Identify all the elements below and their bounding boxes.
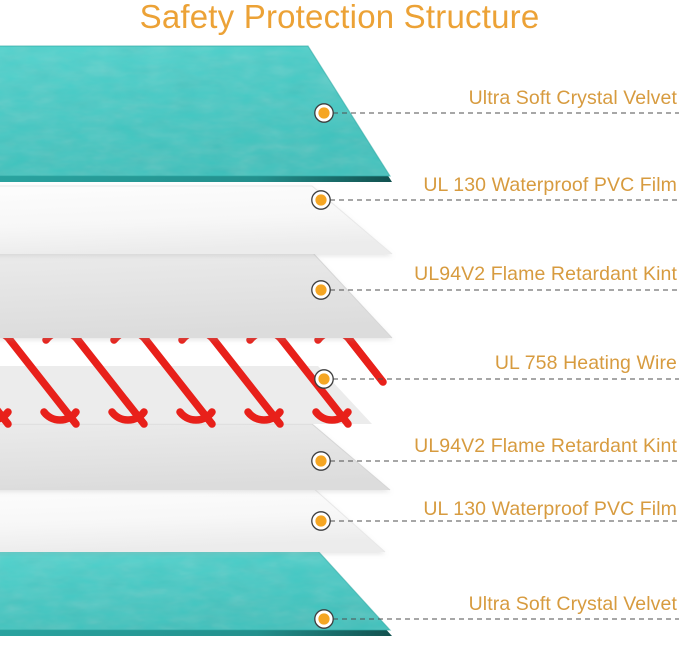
callout-dot-icon-2[interactable] bbox=[312, 191, 330, 209]
layer-label-ul-130-waterproof-pvc-film-top: UL 130 Waterproof PVC Film bbox=[423, 174, 677, 197]
layer-label-ultra-soft-crystal-velvet-bottom: Ultra Soft Crystal Velvet bbox=[469, 593, 677, 616]
heating-wire-lead bbox=[350, 340, 383, 382]
callout-dot-icon-5[interactable] bbox=[312, 452, 330, 470]
layer-5-face bbox=[0, 424, 390, 490]
callout-dot-icon-4[interactable] bbox=[315, 370, 333, 388]
callout-dot-icon-1[interactable] bbox=[315, 104, 333, 122]
layer-5-knit-slab bbox=[0, 424, 390, 490]
layer-2-pvc-slab bbox=[0, 186, 392, 254]
callout-dot-icon-6[interactable] bbox=[312, 512, 330, 530]
infographic-canvas: Safety Protection Structure Ultra Soft C… bbox=[0, 0, 679, 648]
callout-dot-icon-3[interactable] bbox=[312, 281, 330, 299]
layer-label-ul-130-waterproof-pvc-film-bottom: UL 130 Waterproof PVC Film bbox=[423, 498, 677, 521]
layer-label-ultra-soft-crystal-velvet-top: Ultra Soft Crystal Velvet bbox=[469, 87, 677, 110]
callout-dot-icon-7[interactable] bbox=[315, 610, 333, 628]
layer-label-ul-758-heating-wire: UL 758 Heating Wire bbox=[495, 352, 677, 375]
layer-label-ul94v2-flame-retardant-knit-bottom: UL94V2 Flame Retardant Kint bbox=[414, 435, 677, 458]
layer-7-velvet-slab bbox=[0, 551, 392, 636]
layer-3-knit-slab bbox=[0, 252, 392, 338]
layer-3-face bbox=[0, 252, 392, 338]
layer-2-face bbox=[0, 186, 392, 254]
layer-label-ul94v2-flame-retardant-knit-top: UL94V2 Flame Retardant Kint bbox=[414, 263, 677, 286]
page-title: Safety Protection Structure bbox=[0, 0, 679, 36]
